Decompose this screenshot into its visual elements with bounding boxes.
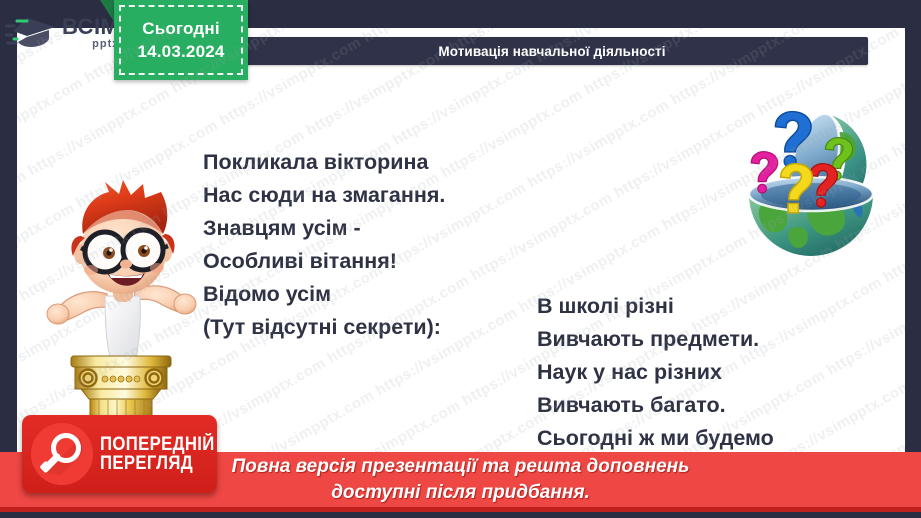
preview-badge-line-2: ПЕРЕГЛЯД xyxy=(100,454,215,473)
poem-left-column: Покликала вікторина Нас сюди на змагання… xyxy=(203,146,445,344)
slide-header-bar: Мотивація навчальної діяльності xyxy=(236,37,868,65)
poem-right-column: В школі різні Вивчають предмети. Наук у … xyxy=(537,290,774,455)
preview-banner-line-2: доступні після придбання. xyxy=(331,480,590,506)
poem-left-line-5: Відомо усім xyxy=(203,278,445,311)
poem-left-line-1: Покликала вікторина xyxy=(203,146,445,179)
preview-badge-line-1: ПОПЕРЕДНІЙ xyxy=(100,435,215,454)
open-globe-question-marks-illustration xyxy=(723,106,905,286)
poem-right-line-3: Наук у нас різних xyxy=(537,356,774,389)
poem-left-line-4: Особливі вітання! xyxy=(203,245,445,278)
graduation-cap-icon xyxy=(5,13,57,53)
preview-banner-line-1: Повна версія презентації та решта доповн… xyxy=(232,454,690,480)
poem-left-line-6: (Тут відсутні секрети): xyxy=(203,311,445,344)
page-title: Мотивація навчальної діяльності xyxy=(438,44,665,59)
poem-right-line-1: В школі різні xyxy=(537,290,774,323)
preview-badge[interactable]: ПОПЕРЕДНІЙ ПЕРЕГЛЯД xyxy=(22,415,217,493)
magnifier-icon xyxy=(31,423,93,485)
poem-left-line-2: Нас сюди на змагання. xyxy=(203,179,445,212)
date-badge-value: 14.03.2024 xyxy=(137,42,224,62)
poem-right-line-5: Сьогодні ж ми будемо xyxy=(537,422,774,455)
poem-right-line-2: Вивчають предмети. xyxy=(537,323,774,356)
poem-left-line-3: Знавцям усім - xyxy=(203,212,445,245)
date-badge-dashed-border xyxy=(119,5,243,75)
date-badge-label: Сьогодні xyxy=(142,19,220,39)
date-badge: Сьогодні 14.03.2024 xyxy=(114,0,248,80)
poem-right-line-4: Вивчають багато. xyxy=(537,389,774,422)
